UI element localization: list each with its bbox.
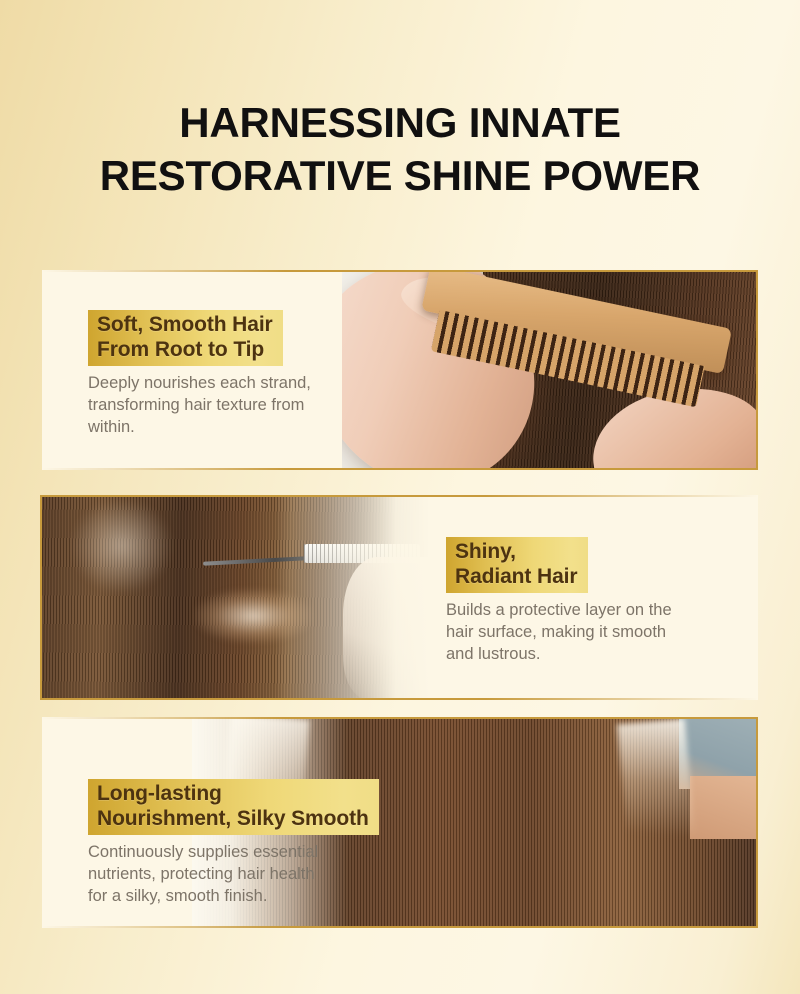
page-title-line-1: HARNESSING INNATE [179, 99, 621, 146]
feature-body: Continuously supplies essential nutrient… [88, 842, 358, 908]
feature-card-shiny-radiant-hair: Shiny, Radiant Hair Builds a protective … [40, 495, 758, 700]
feature-body: Deeply nourishes each strand, transformi… [88, 373, 311, 439]
hair-gloss-upper [71, 499, 172, 593]
page-title: HARNESSING INNATE RESTORATIVE SHINE POWE… [0, 96, 800, 203]
feature-text-long-lasting-nourishment: Long-lasting Nourishment, Silky Smooth C… [88, 779, 379, 908]
feature-card-long-lasting-nourishment: Long-lasting Nourishment, Silky Smooth C… [42, 717, 758, 928]
promo-page: HARNESSING INNATE RESTORATIVE SHINE POWE… [0, 0, 800, 994]
feature-title: Soft, Smooth Hair From Root to Tip [88, 310, 283, 366]
feature-text-soft-smooth-hair: Soft, Smooth Hair From Root to Tip Deepl… [88, 310, 311, 439]
feature-title: Shiny, Radiant Hair [446, 537, 588, 593]
frame-right-line [756, 495, 758, 700]
shoulder-shape [690, 776, 758, 839]
page-title-line-2: RESTORATIVE SHINE POWER [0, 149, 800, 202]
feature-image-combing-hair [342, 270, 758, 470]
feature-card-soft-smooth-hair: Soft, Smooth Hair From Root to Tip Deepl… [42, 270, 758, 470]
feature-image-shiny-hair [40, 495, 428, 700]
feature-body: Builds a protective layer on the hair su… [446, 600, 736, 666]
hair-gloss-right [617, 718, 695, 846]
frame-left-line [42, 717, 44, 928]
photo-fade-edge [275, 495, 428, 700]
feature-title: Long-lasting Nourishment, Silky Smooth [88, 779, 379, 835]
feature-text-shiny-radiant-hair: Shiny, Radiant Hair Builds a protective … [446, 537, 736, 666]
frame-left-line [42, 270, 44, 470]
